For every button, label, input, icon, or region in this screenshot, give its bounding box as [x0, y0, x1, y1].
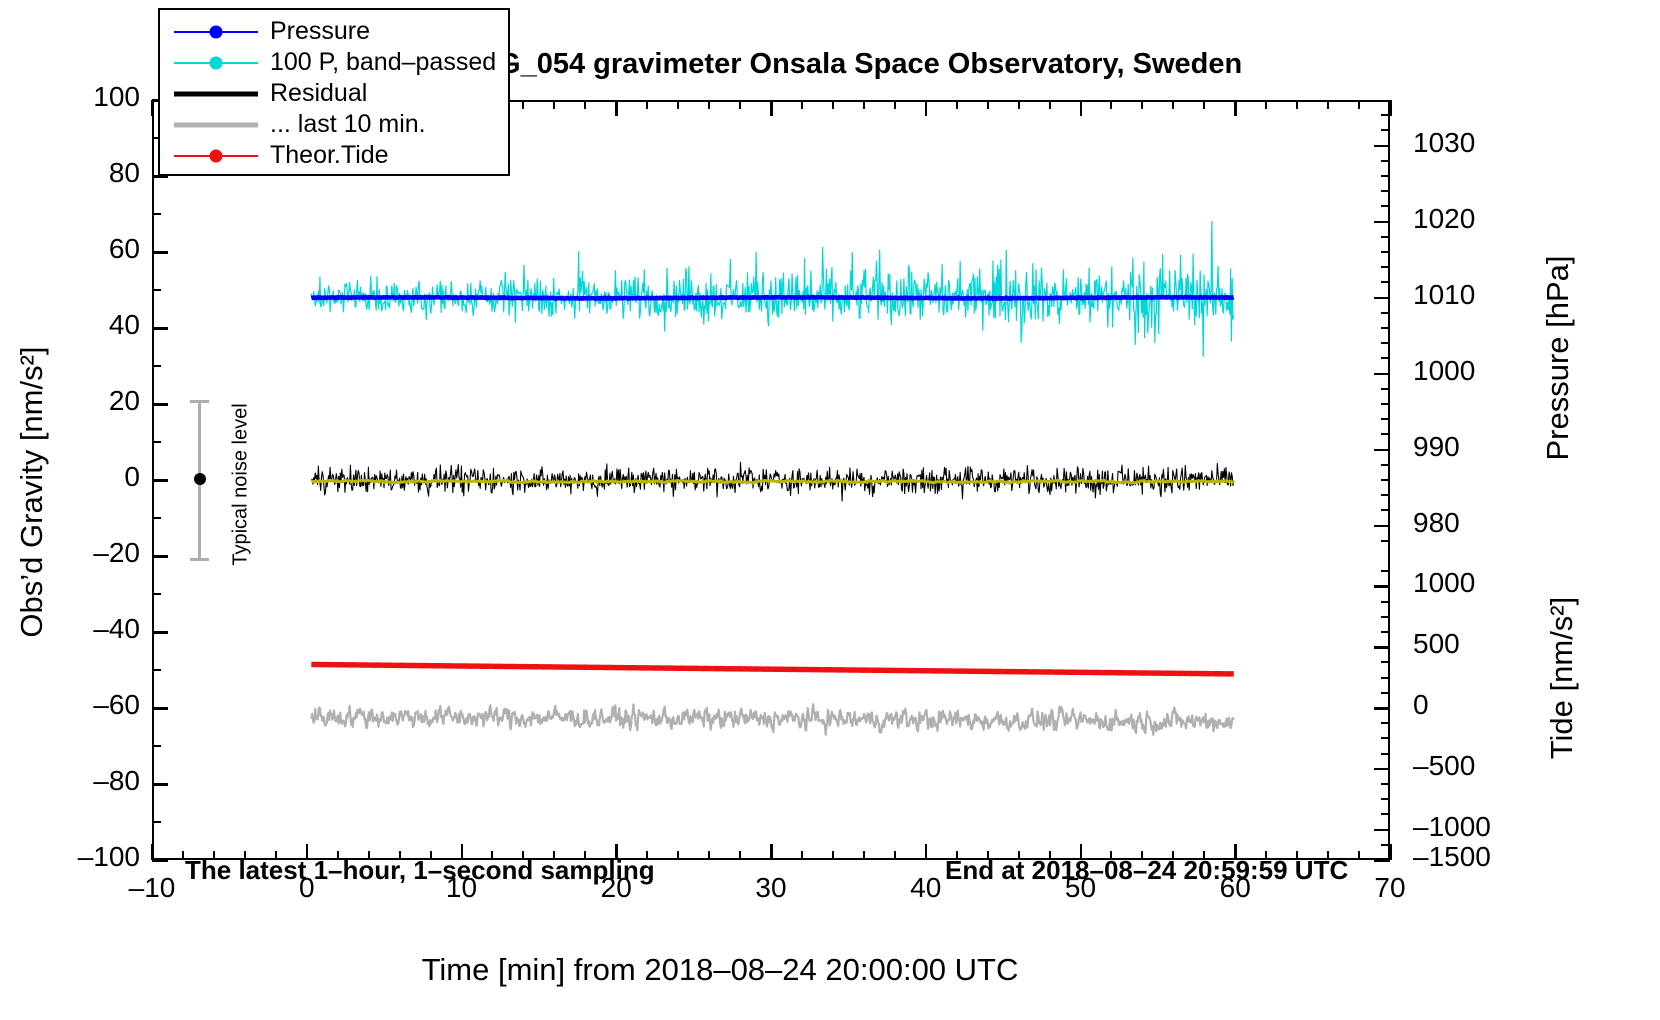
legend-item-label: 100 P, band–passed: [270, 50, 496, 75]
y-tick-label-left: –80: [20, 765, 140, 797]
pressure-tick: [1374, 525, 1390, 528]
y-tick-minor-left: [152, 213, 161, 215]
legend-item-0[interactable]: Pressure: [160, 16, 508, 47]
y-tick-minor-left: [152, 441, 161, 443]
tide-tick-minor: [1381, 844, 1390, 846]
y-tick-minor-left: [152, 745, 161, 747]
tide-tick: [1374, 829, 1390, 832]
y-tick-label-left: –60: [20, 689, 140, 721]
y-tick-left: [152, 555, 168, 558]
y-tick-minor-left: [152, 365, 161, 367]
legend-swatch-icon: [174, 22, 258, 42]
pressure-tick-minor: [1381, 327, 1390, 329]
legend-marker-dot-icon: [210, 56, 223, 69]
tide-tick: [1374, 859, 1390, 862]
tide-tick-minor: [1381, 798, 1390, 800]
tide-tick-label: 0: [1413, 689, 1543, 721]
x-tick: [151, 844, 154, 860]
legend-swatch-icon: [174, 115, 258, 135]
legend-swatch-icon: [174, 84, 258, 104]
tide-tick-label: –1500: [1413, 841, 1543, 873]
y-tick-label-left: –100: [20, 841, 140, 873]
y-tick-left: [152, 251, 168, 254]
pressure-tick: [1374, 449, 1390, 452]
tide-tick-minor: [1381, 677, 1390, 679]
x-tick-minor: [832, 851, 834, 860]
x-tick-minor: [1358, 851, 1360, 860]
x-tick-top: [1080, 100, 1083, 116]
pressure-tick-label: 990: [1413, 431, 1543, 463]
legend-item-3[interactable]: ... last 10 min.: [160, 109, 508, 140]
x-tick-minor-top: [584, 100, 586, 109]
y-tick-label-left: 0: [20, 461, 140, 493]
annotation-end-time: End at 2018–08–24 20:59:59 UTC: [945, 855, 1348, 886]
pressure-tick-minor: [1381, 479, 1390, 481]
x-tick-minor: [677, 851, 679, 860]
x-tick-top: [925, 100, 928, 116]
tide-tick: [1374, 646, 1390, 649]
x-tick-minor-top: [646, 100, 648, 109]
y-tick-left: [152, 859, 168, 862]
pressure-tick-minor: [1381, 464, 1390, 466]
y-tick-label-left: 100: [20, 81, 140, 113]
x-tick-minor-top: [1172, 100, 1174, 109]
pressure-tick-minor: [1381, 160, 1390, 162]
x-tick-minor-top: [1049, 100, 1051, 109]
tide-tick: [1374, 768, 1390, 771]
x-tick-minor-top: [708, 100, 710, 109]
y-tick-minor-left: [152, 289, 161, 291]
x-tick-top: [1234, 100, 1237, 116]
x-tick-minor-top: [1358, 100, 1360, 109]
annotation-sampling: The latest 1–hour, 1–second sampling: [185, 855, 655, 886]
series-residual-smoothed: [311, 480, 1233, 483]
tide-tick-label: 1000: [1413, 567, 1543, 599]
pressure-tick-label: 980: [1413, 507, 1543, 539]
pressure-tick-minor: [1381, 190, 1390, 192]
plot-area: [152, 100, 1390, 860]
pressure-tick-minor: [1381, 388, 1390, 390]
x-tick-minor: [863, 851, 865, 860]
pressure-tick: [1374, 297, 1390, 300]
x-tick-minor-top: [1018, 100, 1020, 109]
x-tick-minor: [708, 851, 710, 860]
tide-tick-minor: [1381, 753, 1390, 755]
legend-item-label: ... last 10 min.: [270, 112, 426, 137]
y-tick-label-left: 40: [20, 309, 140, 341]
legend-item-label: Pressure: [270, 19, 370, 44]
x-tick: [925, 844, 928, 860]
tide-tick-minor: [1381, 661, 1390, 663]
pressure-tick-label: 1000: [1413, 355, 1543, 387]
y-tick-left: [152, 783, 168, 786]
legend-swatch-icon: [174, 53, 258, 73]
tide-tick-minor: [1381, 631, 1390, 633]
pressure-tick-label: 1030: [1413, 127, 1543, 159]
x-tick-minor-top: [1203, 100, 1205, 109]
y-tick-label-left: –40: [20, 613, 140, 645]
series-pressure: [311, 297, 1233, 299]
tide-tick-minor: [1381, 813, 1390, 815]
x-tick-top: [615, 100, 618, 116]
typical-noise-level-marker: Typical noise level: [186, 395, 256, 570]
x-tick: [770, 844, 773, 860]
tide-tick-minor: [1381, 601, 1390, 603]
tide-tick-minor: [1381, 722, 1390, 724]
y-tick-minor-left: [152, 669, 161, 671]
pressure-tick: [1374, 221, 1390, 224]
tide-tick-minor: [1381, 616, 1390, 618]
tide-tick-label: –500: [1413, 750, 1543, 782]
pressure-tick-minor: [1381, 342, 1390, 344]
tide-tick-label: 500: [1413, 628, 1543, 660]
x-tick-minor-top: [1296, 100, 1298, 109]
x-tick-minor: [801, 851, 803, 860]
y-tick-minor-left: [152, 517, 161, 519]
pressure-tick-minor: [1381, 251, 1390, 253]
pressure-tick-minor: [1381, 494, 1390, 496]
x-tick-minor-top: [677, 100, 679, 109]
y-tick-label-left: 20: [20, 385, 140, 417]
x-tick-minor-top: [1327, 100, 1329, 109]
y-tick-left: [152, 631, 168, 634]
noise-errorbar-cap-bottom: [190, 558, 209, 561]
pressure-tick-minor: [1381, 403, 1390, 405]
pressure-tick-minor: [1381, 433, 1390, 435]
legend-item-label: Theor.Tide: [270, 143, 389, 168]
pressure-tick-minor: [1381, 205, 1390, 207]
tide-tick-label: –1000: [1413, 811, 1543, 843]
legend-swatch-icon: [174, 146, 258, 166]
pressure-tick-minor: [1381, 509, 1390, 511]
noise-center-dot: [194, 473, 206, 485]
legend: Pressure100 P, band–passedResidual... la…: [158, 8, 510, 176]
pressure-tick-minor: [1381, 129, 1390, 131]
series-bandpassed: [311, 221, 1233, 356]
pressure-tick-minor: [1381, 357, 1390, 359]
tide-tick-minor: [1381, 783, 1390, 785]
pressure-tick: [1374, 145, 1390, 148]
x-tick-minor-top: [956, 100, 958, 109]
legend-marker-dot-icon: [210, 149, 223, 162]
legend-item-4[interactable]: Theor.Tide: [160, 140, 508, 171]
legend-item-label: Residual: [270, 81, 367, 106]
pressure-tick-label: 1010: [1413, 279, 1543, 311]
legend-marker-dot-icon: [210, 25, 223, 38]
x-tick-minor-top: [522, 100, 524, 109]
noise-errorbar-cap-top: [190, 400, 209, 403]
x-tick-minor-top: [894, 100, 896, 109]
x-tick: [1389, 844, 1392, 860]
y-tick-left: [152, 403, 168, 406]
y-tick-minor-left: [152, 821, 161, 823]
y-tick-label-left: 60: [20, 233, 140, 265]
noise-level-label: Typical noise level: [230, 390, 253, 580]
pressure-tick: [1374, 373, 1390, 376]
x-tick-minor-top: [987, 100, 989, 109]
x-tick-minor-top: [739, 100, 741, 109]
x-tick-top: [770, 100, 773, 116]
tide-tick-minor: [1381, 737, 1390, 739]
pressure-tick-minor: [1381, 266, 1390, 268]
tide-tick-minor: [1381, 692, 1390, 694]
x-tick-minor-top: [801, 100, 803, 109]
y-axis-label-pressure: Pressure [hPa]: [1540, 148, 1576, 568]
x-tick-minor-top: [832, 100, 834, 109]
data-plot: [154, 102, 1388, 858]
x-tick-minor: [182, 851, 184, 860]
x-tick-minor-top: [863, 100, 865, 109]
x-tick-minor: [739, 851, 741, 860]
pressure-tick-minor: [1381, 312, 1390, 314]
x-tick-minor: [894, 851, 896, 860]
y-tick-label-left: –20: [20, 537, 140, 569]
x-tick-top: [151, 100, 154, 116]
tide-tick: [1374, 707, 1390, 710]
x-axis-label: Time [min] from 2018–08–24 20:00:00 UTC: [0, 952, 1440, 988]
series-theor-tide: [311, 664, 1233, 673]
legend-line: [174, 91, 258, 96]
y-axis-label-tide: Tide [nm/s²]: [1544, 508, 1580, 848]
series-last-10-min: [311, 704, 1233, 735]
pressure-tick-minor: [1381, 114, 1390, 116]
y-tick-label-left: 80: [20, 157, 140, 189]
pressure-tick-minor: [1381, 281, 1390, 283]
tide-tick-minor: [1381, 570, 1390, 572]
x-tick-minor-top: [1265, 100, 1267, 109]
pressure-tick-minor: [1381, 418, 1390, 420]
y-tick-left: [152, 707, 168, 710]
y-tick-left: [152, 327, 168, 330]
x-tick-minor-top: [1141, 100, 1143, 109]
legend-item-1[interactable]: 100 P, band–passed: [160, 47, 508, 78]
x-tick-minor-top: [553, 100, 555, 109]
x-tick-label: 30: [711, 872, 831, 904]
y-tick-minor-left: [152, 593, 161, 595]
x-tick-minor-top: [1110, 100, 1112, 109]
pressure-tick-minor: [1381, 540, 1390, 542]
legend-item-2[interactable]: Residual: [160, 78, 508, 109]
legend-line: [174, 122, 258, 127]
pressure-tick-minor: [1381, 175, 1390, 177]
pressure-tick-label: 1020: [1413, 203, 1543, 235]
y-tick-left: [152, 479, 168, 482]
pressure-tick-minor: [1381, 236, 1390, 238]
tide-tick: [1374, 585, 1390, 588]
